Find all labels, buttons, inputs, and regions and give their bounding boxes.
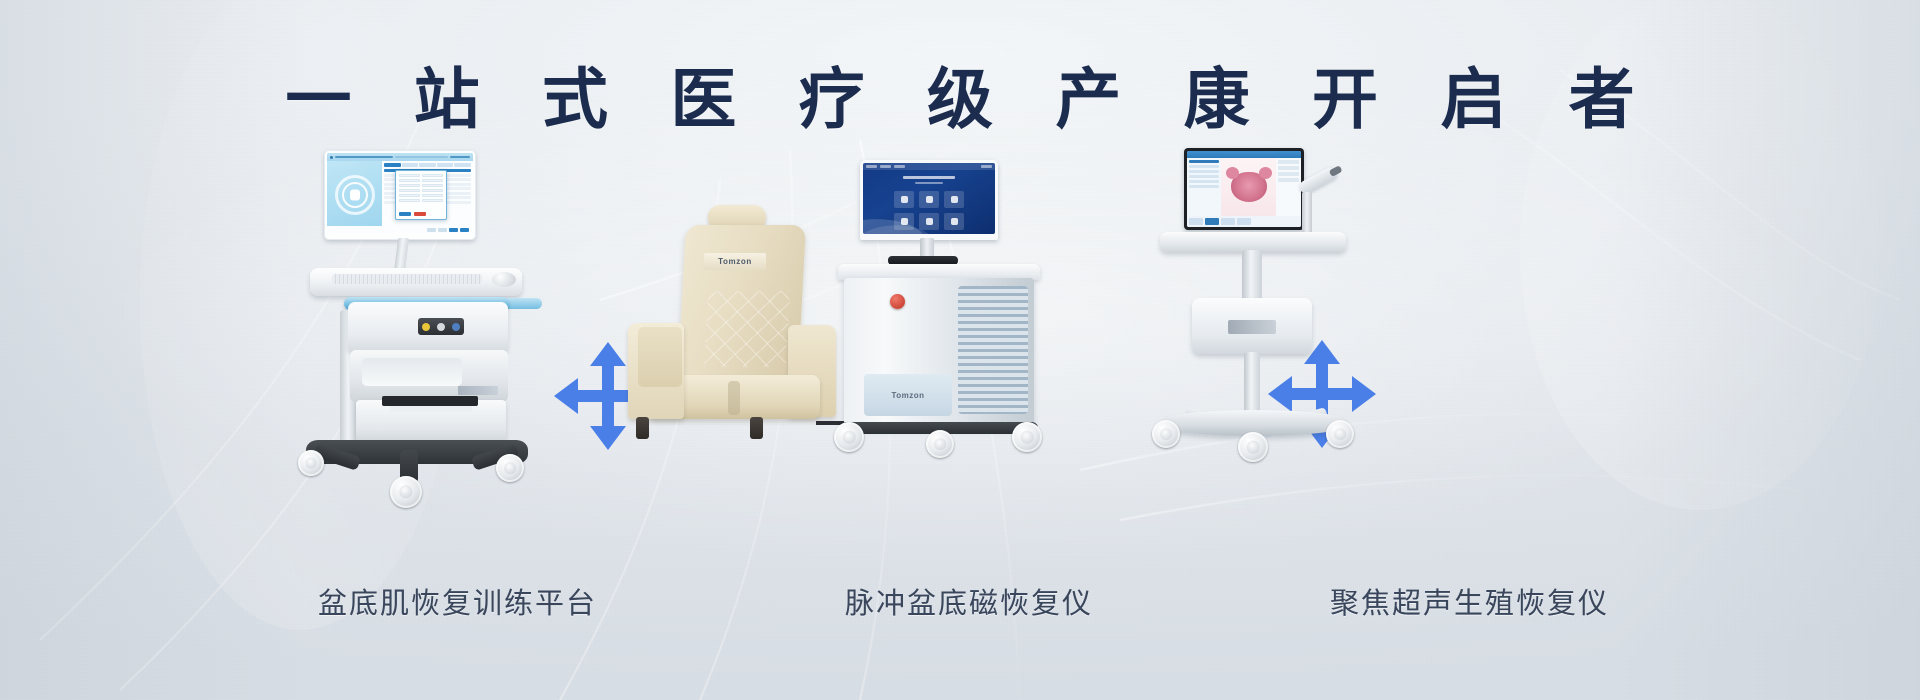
product1-screen bbox=[327, 153, 473, 233]
uterus-illustration-icon bbox=[1231, 172, 1267, 202]
topbar-item bbox=[981, 165, 992, 168]
product4-brand-plate bbox=[1228, 320, 1276, 334]
toolbar-button bbox=[1189, 218, 1203, 225]
modal-buttons bbox=[399, 212, 426, 216]
modal-field-row bbox=[399, 174, 443, 177]
product1-connector-panel bbox=[418, 318, 464, 335]
product3-screen bbox=[863, 163, 995, 234]
topbar-item bbox=[880, 165, 891, 168]
emergency-stop-button bbox=[890, 294, 905, 309]
product4-worktop bbox=[1160, 232, 1346, 252]
caster-wheel bbox=[496, 454, 524, 482]
ultrasound-anatomy-view bbox=[1221, 158, 1276, 216]
product1-monitor-neck bbox=[394, 238, 409, 272]
software-illustration-pane bbox=[327, 161, 382, 226]
modal-field-row bbox=[399, 189, 443, 192]
titlebar-filler bbox=[395, 156, 448, 158]
caster-wheel bbox=[390, 476, 422, 508]
footer-primary-button bbox=[449, 228, 458, 232]
caption-product-1: 盆底肌恢复训练平台 bbox=[318, 580, 597, 622]
product-magnetic-stimulation-console: Tomzon bbox=[830, 160, 1080, 455]
chair-brand-text: Tomzon bbox=[718, 257, 752, 266]
probe-holder bbox=[1302, 192, 1312, 234]
cabinet-brand-panel: Tomzon bbox=[864, 374, 952, 416]
chair-seat-split bbox=[728, 381, 740, 415]
ultrasound-right-panel bbox=[1276, 158, 1301, 216]
product-focused-ultrasound-cart bbox=[1150, 148, 1380, 460]
product1-monitor bbox=[324, 150, 476, 240]
tab-item bbox=[454, 163, 471, 167]
titlebar-text-bar bbox=[335, 156, 393, 158]
tab-item bbox=[437, 163, 454, 167]
modal-field-row bbox=[399, 184, 443, 187]
software-titlebar bbox=[327, 153, 473, 161]
modal-cancel-button bbox=[414, 212, 426, 216]
toolbar-button bbox=[1237, 218, 1251, 225]
printer-paper-slot bbox=[382, 396, 478, 406]
tab-item bbox=[402, 163, 419, 167]
software-modal-dialog bbox=[395, 170, 447, 220]
panel-item bbox=[1278, 166, 1299, 170]
chair-quilted-pattern bbox=[704, 291, 790, 367]
caster-wheel bbox=[1238, 432, 1268, 462]
cabinet-brand-text: Tomzon bbox=[891, 391, 924, 400]
panel-item bbox=[1189, 165, 1219, 168]
modal-field-row bbox=[399, 194, 443, 197]
product3-monitor bbox=[860, 160, 998, 240]
software-footer bbox=[327, 226, 473, 233]
panel-item-active bbox=[1189, 160, 1219, 163]
console-title-line bbox=[903, 176, 955, 179]
product-pelvic-floor-training-platform bbox=[292, 150, 552, 460]
tab-active bbox=[384, 163, 401, 167]
panel-item bbox=[1189, 185, 1219, 188]
chair-foot bbox=[636, 417, 649, 439]
caster-wheel bbox=[1012, 422, 1042, 452]
caption-product-2: 脉冲盆底磁恢复仪 bbox=[845, 580, 1093, 622]
illustration-icon bbox=[350, 189, 360, 200]
ultrasound-left-panel bbox=[1187, 158, 1221, 216]
ultrasound-titlebar bbox=[1187, 151, 1301, 158]
chair-brand-plate: Tomzon bbox=[704, 253, 766, 270]
caster-wheel bbox=[926, 430, 954, 458]
banner-stage: 一 站 式 医 疗 级 产 康 开 启 者 bbox=[0, 0, 1920, 700]
product1-brand-plate bbox=[458, 386, 498, 395]
modal-field-row bbox=[399, 179, 443, 182]
footer-primary-button bbox=[460, 228, 469, 232]
footer-button bbox=[438, 228, 447, 232]
ultrasound-main bbox=[1187, 158, 1301, 216]
caster-wheel bbox=[1326, 420, 1354, 448]
tab-item bbox=[419, 163, 436, 167]
ultrasound-bottom-toolbar bbox=[1187, 216, 1301, 227]
console-wave-graphic bbox=[863, 206, 995, 234]
software-tabs bbox=[384, 163, 471, 167]
product4-screen bbox=[1187, 151, 1301, 227]
caster-wheel bbox=[298, 450, 324, 476]
titlebar-dot bbox=[330, 156, 333, 159]
printer-paper-sheet bbox=[390, 406, 472, 412]
port-grey bbox=[437, 323, 445, 331]
caption-product-3: 聚焦超声生殖恢复仪 bbox=[1330, 580, 1609, 622]
caster-wheel bbox=[834, 422, 864, 452]
chair-foot bbox=[750, 417, 763, 439]
panel-item bbox=[1278, 172, 1299, 176]
panel-item bbox=[1189, 170, 1219, 173]
product1-keyboard bbox=[332, 274, 482, 284]
port-blue bbox=[452, 323, 460, 331]
toolbar-primary-button bbox=[1205, 218, 1219, 225]
panel-item bbox=[1278, 160, 1299, 164]
panel-item bbox=[1189, 180, 1219, 183]
panel-item bbox=[1278, 178, 1299, 182]
cabinet-vent-grille bbox=[958, 286, 1028, 414]
product4-main-unit bbox=[1192, 298, 1312, 354]
product4-monitor bbox=[1184, 148, 1304, 230]
console-topbar bbox=[863, 163, 995, 170]
modal-confirm-button bbox=[399, 212, 411, 216]
product-pulse-magnetic-chair: Tomzon bbox=[620, 205, 850, 450]
port-yellow bbox=[422, 323, 430, 331]
product1-knob bbox=[492, 272, 516, 287]
modal-field-row bbox=[399, 199, 443, 202]
product4-lower-post bbox=[1244, 352, 1260, 418]
topbar-item bbox=[866, 165, 877, 168]
console-subtitle-line bbox=[915, 182, 943, 184]
topbar-item bbox=[894, 165, 905, 168]
product3-cabinet: Tomzon bbox=[844, 278, 1034, 428]
product1-storage-tray bbox=[350, 350, 508, 402]
chair-left-armrest bbox=[628, 323, 684, 419]
caster-wheel bbox=[1152, 420, 1180, 448]
toolbar-button bbox=[1221, 218, 1235, 225]
panel-item bbox=[1189, 175, 1219, 178]
titlebar-right-bar bbox=[450, 156, 470, 158]
page-title: 一 站 式 医 疗 级 产 康 开 启 者 bbox=[0, 58, 1920, 141]
footer-button bbox=[427, 228, 436, 232]
